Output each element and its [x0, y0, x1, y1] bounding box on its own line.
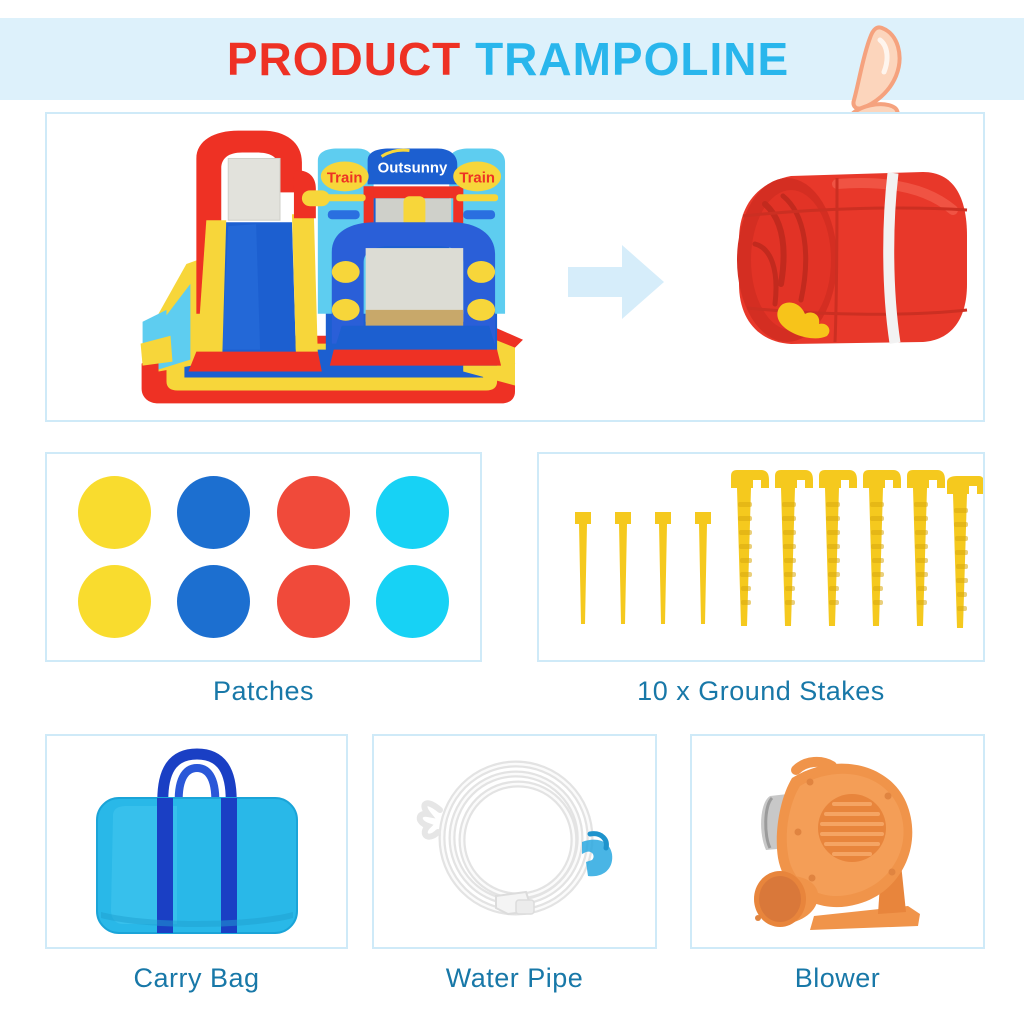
- patch-item: [78, 476, 151, 549]
- arrow-right-icon: [560, 237, 670, 327]
- patch-item: [177, 476, 250, 549]
- patch-item: [177, 565, 250, 638]
- tall-stake: [819, 470, 857, 626]
- hero-panel: Train Train Outsunny: [45, 112, 985, 422]
- water-pipe-caption: Water Pipe: [372, 963, 657, 994]
- svg-text:Train: Train: [327, 169, 363, 186]
- short-stake: [575, 512, 591, 624]
- short-stake: [615, 512, 631, 624]
- tall-stake: [775, 470, 813, 626]
- ground-stakes-image: [539, 454, 983, 660]
- tall-stake: [731, 470, 769, 626]
- carry-bag-panel: [45, 734, 348, 949]
- patch-item: [376, 565, 449, 638]
- page-title: PRODUCT TRAMPOLINE: [227, 36, 789, 82]
- patch-item: [78, 565, 151, 638]
- carry-bag-image: [47, 736, 346, 947]
- short-stake: [695, 512, 711, 624]
- ground-stakes-caption: 10 x Ground Stakes: [537, 676, 985, 707]
- water-pipe-image: [374, 736, 655, 947]
- ground-stakes-panel: [537, 452, 985, 662]
- title-word-trampoline: TRAMPOLINE: [475, 33, 789, 85]
- blower-caption: Blower: [690, 963, 985, 994]
- short-stake: [655, 512, 671, 624]
- brand-logo-text: Outsunny: [378, 159, 448, 176]
- water-pipe-panel: [372, 734, 657, 949]
- packed-product-image: [687, 144, 977, 364]
- tall-stake: [947, 476, 983, 628]
- tall-stake: [863, 470, 901, 626]
- title-word-product: PRODUCT: [227, 33, 461, 85]
- patches-grid: [47, 454, 480, 660]
- patch-item: [277, 565, 350, 638]
- svg-text:Train: Train: [459, 169, 495, 186]
- train-badge-right: Train: [453, 161, 501, 201]
- carry-bag-caption: Carry Bag: [45, 963, 348, 994]
- patch-item: [376, 476, 449, 549]
- tall-stake: [907, 470, 945, 626]
- patch-item: [277, 476, 350, 549]
- patches-caption: Patches: [45, 676, 482, 707]
- blower-image: [692, 736, 983, 947]
- patches-panel: [45, 452, 482, 662]
- blower-panel: [690, 734, 985, 949]
